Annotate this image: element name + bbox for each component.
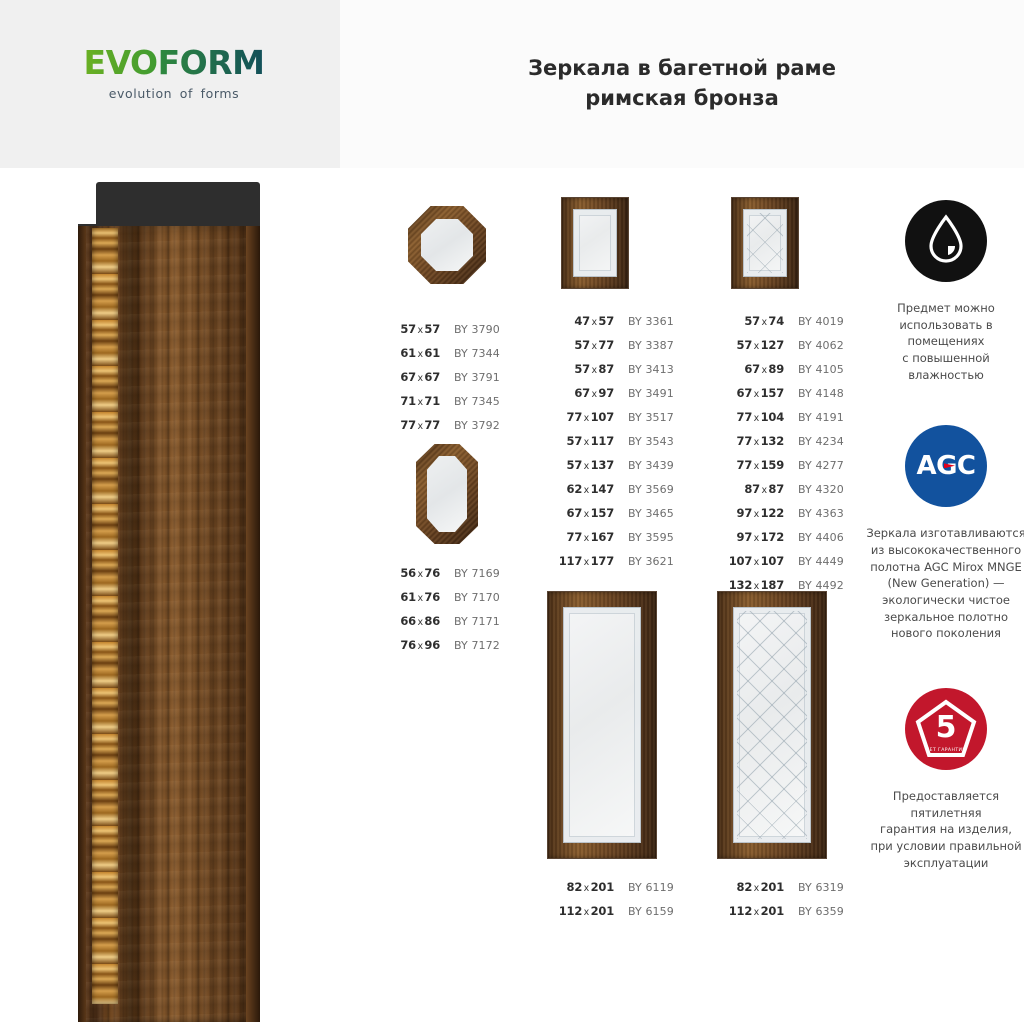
page-title: Зеркала в багетной раме римская бронза: [528, 54, 836, 114]
size-width: 76: [400, 638, 416, 652]
size-height: 104: [761, 410, 784, 424]
logo-wordmark: EVOFORM: [64, 46, 284, 79]
water-drop-icon: [905, 200, 987, 282]
size-height: 76: [424, 566, 440, 580]
warranty-sublabel: ЛЕТ ГАРАНТИИ: [905, 748, 987, 753]
size-width: 57: [567, 458, 583, 472]
mirror-frame: [718, 592, 826, 858]
table-row[interactable]: 67x89 BY 4105: [722, 362, 862, 386]
size-width: 97: [737, 530, 753, 544]
table-row[interactable]: 67x157 BY 3465: [552, 506, 692, 530]
warranty-number: 5: [905, 688, 987, 770]
table-row[interactable]: 82x201 BY 6119: [552, 880, 692, 904]
size-height: 177: [591, 554, 614, 568]
product-code: BY 7344: [440, 347, 500, 360]
size-list-tall-plain: 82x201 BY 6119 112x201 BY 6159: [552, 880, 692, 928]
size-list-octagon-square: 57x57 BY 3790 61x61 BY 7344 67x67 BY 379…: [382, 322, 512, 442]
size-width: 57: [400, 322, 416, 336]
page-header: EVOFORM evolution of forms Зеркала в баг…: [0, 0, 1024, 168]
table-row[interactable]: 76x96 BY 7172: [382, 638, 512, 662]
product-thumbnail-tall-plain[interactable]: [552, 592, 692, 864]
size-height: 61: [424, 346, 440, 360]
size-height: 57: [598, 314, 614, 328]
product-code: BY 3595: [614, 531, 674, 544]
product-column-tall-plain: 82x201 BY 6119 112x201 BY 6159: [552, 592, 692, 928]
table-row[interactable]: 117x177 BY 3621: [552, 554, 692, 578]
size-height: 74: [768, 314, 784, 328]
size-width: 77: [567, 410, 583, 424]
size-height: 107: [591, 410, 614, 424]
size-width: 67: [737, 386, 753, 400]
size-width: 77: [737, 458, 753, 472]
size-width: 47: [574, 314, 590, 328]
product-column-tall-facet: 82x201 BY 6319 112x201 BY 6359: [722, 592, 862, 928]
size-height: 67: [424, 370, 440, 384]
table-row[interactable]: 57x117 BY 3543: [552, 434, 692, 458]
product-code: BY 6159: [614, 905, 674, 918]
page-title-line2: римская бронза: [528, 84, 836, 114]
mirror-glass: [573, 209, 617, 277]
table-row[interactable]: 57x137 BY 3439: [552, 458, 692, 482]
table-row[interactable]: 82x201 BY 6319: [722, 880, 862, 904]
product-code: BY 7345: [440, 395, 500, 408]
page-title-line1: Зеркала в багетной раме: [528, 54, 836, 84]
table-row[interactable]: 57x57 BY 3790: [382, 322, 512, 346]
product-code: BY 4148: [784, 387, 844, 400]
size-width: 107: [729, 554, 752, 568]
title-block: Зеркала в багетной раме римская бронза: [340, 0, 1024, 168]
size-height: 97: [598, 386, 614, 400]
size-width: 67: [744, 362, 760, 376]
size-width: 61: [400, 590, 416, 604]
table-row[interactable]: 61x61 BY 7344: [382, 346, 512, 370]
table-row[interactable]: 112x201 BY 6159: [552, 904, 692, 928]
product-code: BY 4363: [784, 507, 844, 520]
size-list-rect-facet: 57x74 BY 4019 57x127 BY 4062 67x89 BY 41…: [722, 314, 862, 602]
product-thumbnail-octagon-tall[interactable]: [382, 444, 512, 554]
size-width: 77: [400, 418, 416, 432]
size-width: 61: [400, 346, 416, 360]
table-row[interactable]: 77x104 BY 4191: [722, 410, 862, 434]
size-height: 159: [761, 458, 784, 472]
product-code: BY 4191: [784, 411, 844, 424]
product-code: BY 6319: [784, 881, 844, 894]
size-height: 117: [591, 434, 614, 448]
size-height: 77: [424, 418, 440, 432]
size-width: 57: [574, 338, 590, 352]
product-code: BY 4277: [784, 459, 844, 472]
size-height: 157: [761, 386, 784, 400]
size-height: 137: [591, 458, 614, 472]
product-code: BY 6359: [784, 905, 844, 918]
size-width: 97: [737, 506, 753, 520]
size-width: 87: [744, 482, 760, 496]
feature-column: Предмет можно использовать в помещениях …: [868, 182, 1024, 871]
brand-logo[interactable]: EVOFORM evolution of forms: [64, 46, 284, 101]
product-code: BY 3465: [614, 507, 674, 520]
size-width: 57: [744, 314, 760, 328]
table-row[interactable]: 77x167 BY 3595: [552, 530, 692, 554]
product-code: BY 7169: [440, 567, 500, 580]
size-height: 71: [424, 394, 440, 408]
table-row[interactable]: 97x122 BY 4363: [722, 506, 862, 530]
table-row[interactable]: 77x77 BY 3792: [382, 418, 512, 442]
size-width: 56: [400, 566, 416, 580]
product-code: BY 4492: [784, 579, 844, 592]
size-list-octagon-tall: 56x76 BY 7169 61x76 BY 7170 66x86 BY 717…: [382, 566, 512, 662]
size-height: 201: [761, 880, 784, 894]
mirror-glass: [563, 607, 641, 843]
mirror-frame: [562, 198, 628, 288]
product-column-rect-plain: 47x57 BY 3361 57x77 BY 3387 57x87 BY 341…: [552, 196, 692, 578]
product-thumbnail-rect-plain[interactable]: [552, 198, 692, 302]
size-height: 122: [761, 506, 784, 520]
product-code: BY 4234: [784, 435, 844, 448]
mirror-frame: [416, 444, 478, 544]
size-width: 112: [559, 904, 582, 918]
mirror-frame: [408, 206, 486, 284]
product-column-octagon-tall: 56x76 BY 7169 61x76 BY 7170 66x86 BY 717…: [382, 440, 512, 662]
size-width: 62: [567, 482, 583, 496]
product-code: BY 7170: [440, 591, 500, 604]
size-height: 127: [761, 338, 784, 352]
product-column-octagon-square: 57x57 BY 3790 61x61 BY 7344 67x67 BY 379…: [382, 196, 512, 442]
size-width: 57: [737, 338, 753, 352]
size-height: 167: [591, 530, 614, 544]
table-row[interactable]: 77x159 BY 4277: [722, 458, 862, 482]
table-row[interactable]: 57x87 BY 3413: [552, 362, 692, 386]
table-row[interactable]: 61x76 BY 7170: [382, 590, 512, 614]
size-height: 87: [768, 482, 784, 496]
table-row[interactable]: 62x147 BY 3569: [552, 482, 692, 506]
product-code: BY 4105: [784, 363, 844, 376]
feature-agc-text: Зеркала изготавливаются из высококачеств…: [863, 525, 1024, 642]
table-row[interactable]: 47x57 BY 3361: [552, 314, 692, 338]
product-code: BY 3361: [614, 315, 674, 328]
size-height: 172: [761, 530, 784, 544]
table-row[interactable]: 67x97 BY 3491: [552, 386, 692, 410]
size-height: 157: [591, 506, 614, 520]
moulding-left-edge: [78, 226, 86, 1022]
product-code: BY 3543: [614, 435, 674, 448]
mirror-glass: [421, 219, 473, 271]
product-code: BY 3517: [614, 411, 674, 424]
feature-moisture: Предмет можно использовать в помещениях …: [868, 200, 1024, 383]
product-code: BY 3439: [614, 459, 674, 472]
product-code: BY 3621: [614, 555, 674, 568]
product-code: BY 4449: [784, 555, 844, 568]
feature-agc: AGC Зеркала изготавливаются из высококач…: [868, 425, 1024, 642]
size-height: 147: [591, 482, 614, 496]
mirror-glass: [427, 456, 467, 532]
feature-warranty: 5 ЛЕТ ГАРАНТИИ Предоставляется пятилетня…: [868, 688, 1024, 871]
size-height: 201: [591, 880, 614, 894]
product-code: BY 7171: [440, 615, 500, 628]
moulding-profile-photo: [78, 182, 260, 1022]
size-height: 89: [768, 362, 784, 376]
size-width: 82: [737, 880, 753, 894]
moulding-right-edge: [246, 226, 260, 1022]
table-row[interactable]: 57x127 BY 4062: [722, 338, 862, 362]
product-code: BY 3791: [440, 371, 500, 384]
size-width: 112: [729, 904, 752, 918]
size-width: 77: [567, 530, 583, 544]
size-height: 96: [424, 638, 440, 652]
table-row[interactable]: 97x172 BY 4406: [722, 530, 862, 554]
product-code: BY 3387: [614, 339, 674, 352]
logo-panel: EVOFORM evolution of forms: [0, 0, 340, 168]
size-height: 107: [761, 554, 784, 568]
size-height: 187: [761, 578, 784, 592]
product-column-rect-facet: 57x74 BY 4019 57x127 BY 4062 67x89 BY 41…: [722, 196, 862, 602]
size-height: 87: [598, 362, 614, 376]
moulding-gold-ornament: [92, 228, 118, 1004]
table-row[interactable]: 87x87 BY 4320: [722, 482, 862, 506]
size-width: 67: [567, 506, 583, 520]
size-height: 132: [761, 434, 784, 448]
product-code: BY 3491: [614, 387, 674, 400]
table-row[interactable]: 67x67 BY 3791: [382, 370, 512, 394]
size-width: 77: [737, 410, 753, 424]
size-width: 67: [400, 370, 416, 384]
size-list-rect-plain: 47x57 BY 3361 57x77 BY 3387 57x87 BY 341…: [552, 314, 692, 578]
product-thumbnail-octagon-square[interactable]: [382, 206, 512, 310]
table-row[interactable]: 56x76 BY 7169: [382, 566, 512, 590]
table-row[interactable]: 67x157 BY 4148: [722, 386, 862, 410]
logo-tagline: evolution of forms: [64, 86, 284, 101]
size-height: 76: [424, 590, 440, 604]
size-width: 66: [400, 614, 416, 628]
table-row[interactable]: 57x77 BY 3387: [552, 338, 692, 362]
product-code: BY 3790: [440, 323, 500, 336]
product-code: BY 4320: [784, 483, 844, 496]
size-height: 77: [598, 338, 614, 352]
product-code: BY 4062: [784, 339, 844, 352]
size-width: 117: [559, 554, 582, 568]
warranty-pentagon-icon: 5 ЛЕТ ГАРАНТИИ: [905, 688, 987, 770]
size-width: 77: [737, 434, 753, 448]
logo-form: FORM: [158, 46, 265, 79]
table-row[interactable]: 66x86 BY 7171: [382, 614, 512, 638]
mirror-glass-faceted: [733, 607, 811, 843]
size-width: 71: [400, 394, 416, 408]
table-row[interactable]: 77x132 BY 4234: [722, 434, 862, 458]
product-code: BY 4019: [784, 315, 844, 328]
product-code: BY 4406: [784, 531, 844, 544]
size-width: 57: [574, 362, 590, 376]
table-row[interactable]: 107x107 BY 4449: [722, 554, 862, 578]
mirror-frame: [732, 198, 798, 288]
size-width: 132: [729, 578, 752, 592]
size-width: 82: [567, 880, 583, 894]
product-thumbnail-tall-facet[interactable]: [722, 592, 862, 864]
product-code: BY 3569: [614, 483, 674, 496]
feature-moisture-text: Предмет можно использовать в помещениях …: [868, 300, 1024, 383]
size-width: 67: [574, 386, 590, 400]
size-height: 201: [591, 904, 614, 918]
product-thumbnail-rect-facet[interactable]: [722, 198, 862, 302]
table-row[interactable]: 112x201 BY 6359: [722, 904, 862, 928]
table-row[interactable]: 71x71 BY 7345: [382, 394, 512, 418]
size-height: 201: [761, 904, 784, 918]
size-width: 57: [567, 434, 583, 448]
logo-evo: EVO: [84, 46, 158, 79]
mirror-glass-faceted: [743, 209, 787, 277]
feature-warranty-text: Предоставляется пятилетняя гарантия на и…: [863, 788, 1024, 871]
table-row[interactable]: 77x107 BY 3517: [552, 410, 692, 434]
table-row[interactable]: 57x74 BY 4019: [722, 314, 862, 338]
agc-logo-icon: AGC: [905, 425, 987, 507]
size-height: 86: [424, 614, 440, 628]
product-code: BY 3413: [614, 363, 674, 376]
product-code: BY 3792: [440, 419, 500, 432]
product-code: BY 7172: [440, 639, 500, 652]
mirror-frame: [548, 592, 656, 858]
product-code: BY 6119: [614, 881, 674, 894]
size-list-tall-facet: 82x201 BY 6319 112x201 BY 6359: [722, 880, 862, 928]
size-height: 57: [424, 322, 440, 336]
